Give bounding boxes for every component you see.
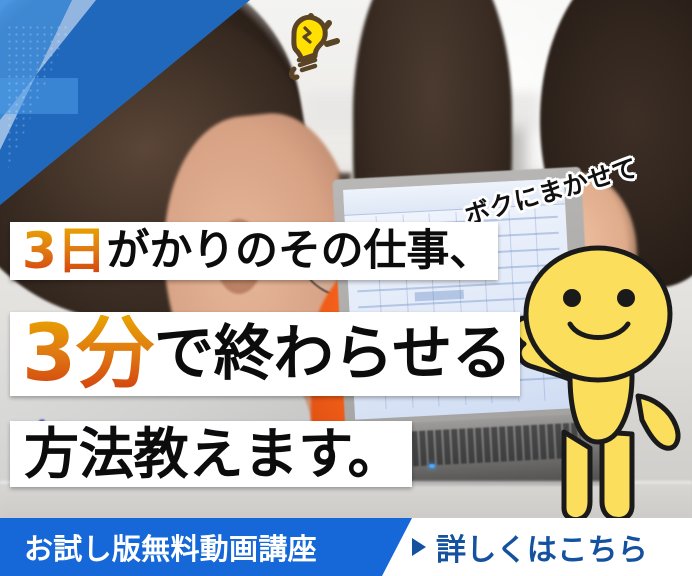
headline-line-3-text: 方法教えます。 — [24, 427, 402, 482]
headline-line-3: 方法教えます。 — [10, 421, 412, 487]
ad-banner-root: ボクにまかせて 3日 がかりのその仕事、 3分 で終わらせる 方法教えます。 お… — [0, 0, 692, 576]
headline-line-1: 3日 がかりのその仕事、 — [10, 222, 498, 280]
cta-label: 詳しくはこちら — [436, 525, 648, 569]
headline-line-1-rest: がかりのその仕事、 — [106, 230, 492, 273]
corner-decoration — [0, 0, 300, 230]
yellow-mascot — [498, 236, 692, 528]
headline-line-2-rest: で終わらせる — [154, 324, 512, 384]
headline-highlight-3days: 3日 — [22, 226, 106, 276]
bottom-banner: お試し版無料動画講座 詳しくはこちら — [0, 518, 692, 576]
headline-line-2: 3分 で終わらせる — [10, 312, 520, 396]
play-triangle-icon — [412, 538, 426, 556]
cta-button[interactable]: 詳しくはこちら — [412, 518, 692, 576]
light-bulb-icon — [258, 8, 350, 84]
free-trial-label-block: お試し版無料動画講座 — [0, 518, 412, 576]
free-trial-label: お試し版無料動画講座 — [24, 526, 317, 568]
headline-highlight-3min: 3分 — [22, 315, 154, 393]
laptop-led — [429, 464, 435, 468]
